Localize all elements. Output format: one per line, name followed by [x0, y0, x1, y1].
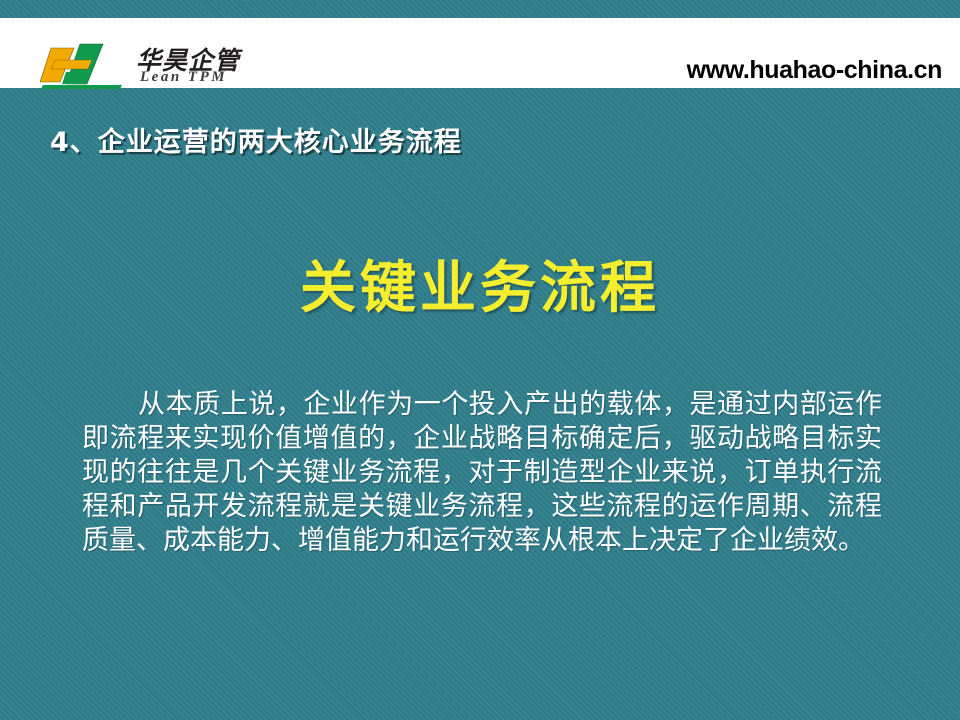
slide-canvas: 华昊企管 Lean TPM www.huahao-china.cn 4、企业运营…	[0, 0, 960, 720]
logo-company-name-en: Lean TPM	[140, 69, 227, 86]
huahao-h-mark-icon	[40, 42, 122, 90]
slide-heading: 4、企业运营的两大核心业务流程	[50, 120, 462, 159]
slide-title: 关键业务流程	[0, 243, 960, 324]
header-band: 华昊企管 Lean TPM www.huahao-china.cn	[0, 18, 960, 88]
slide-body-text: 从本质上说，企业作为一个投入产出的载体，是通过内部运作即流程来实现价值增值的，企…	[82, 388, 882, 558]
site-url[interactable]: www.huahao-china.cn	[687, 56, 942, 85]
company-logo[interactable]: 华昊企管 Lean TPM	[40, 42, 235, 90]
